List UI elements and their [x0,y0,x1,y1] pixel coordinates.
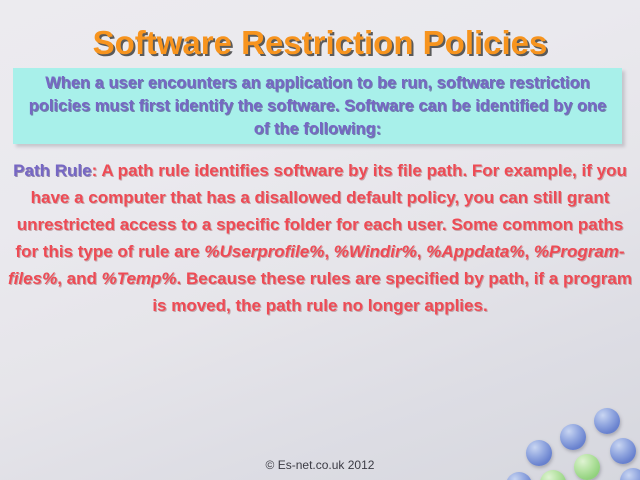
body-lead-term: Path Rule [13,161,91,180]
slide-canvas: Software Restriction Policies When a use… [0,0,640,480]
env-variable-4: %Temp% [102,269,177,288]
page-title: Software Restriction Policies [0,24,640,62]
callout-box: When a user encounters an application to… [13,68,622,144]
footer-copyright: © Es-net.co.uk 2012 [0,458,640,472]
decorative-sphere-1 [560,424,586,450]
body-paragraph: Path Rule: A path rule identifies softwa… [8,157,632,319]
callout-text: When a user encounters an application to… [13,72,622,141]
decorative-sphere-7 [506,472,532,480]
body-rest-text: : A path rule identifies software by its… [8,161,632,315]
env-variable-1: %Windir% [334,242,417,261]
env-variable-2: %Appdata% [426,242,524,261]
env-variable-0: %Userprofile% [204,242,324,261]
decorative-sphere-0 [594,408,620,434]
